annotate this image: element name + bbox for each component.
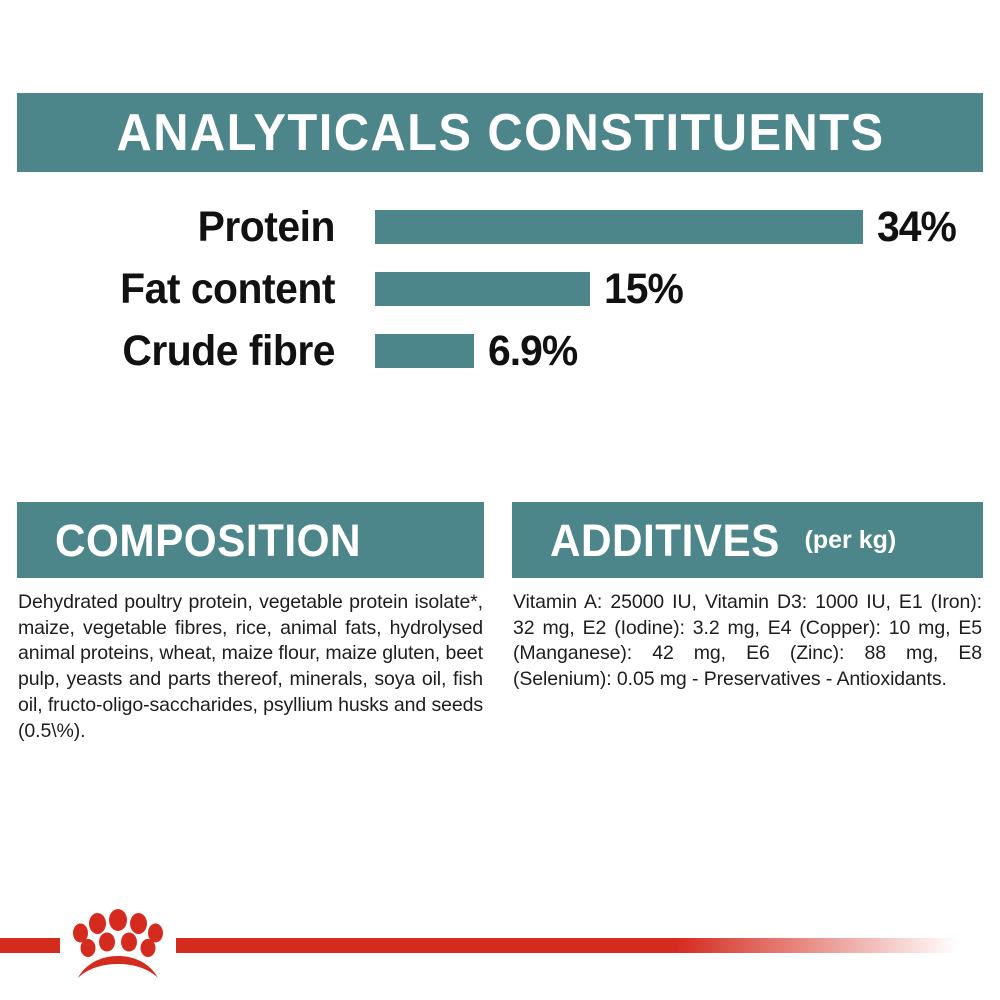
chart-row: Crude fibre 6.9%: [0, 320, 1000, 382]
additives-section: ADDITIVES (per kg) Vitamin A: 25000 IU, …: [500, 502, 1000, 744]
composition-header-bar: COMPOSITION: [17, 502, 484, 578]
chart-value-label: 34%: [877, 206, 956, 249]
chart-row: Protein 34%: [0, 196, 1000, 258]
chart-bar: [375, 210, 863, 244]
chart-value-label: 6.9%: [488, 330, 577, 373]
brand-rule-right: [176, 938, 958, 953]
chart-bar-track: 34%: [375, 196, 1000, 258]
additives-header-bar: ADDITIVES (per kg): [512, 502, 983, 578]
analytical-constituents-header-bar: ANALYTICALS CONSTITUENTS: [17, 93, 983, 172]
composition-section: COMPOSITION Dehydrated poultry protein, …: [0, 502, 500, 744]
chart-category-label: Protein: [17, 206, 335, 249]
page-title: ANALYTICALS CONSTITUENTS: [116, 107, 884, 159]
analytical-constituents-chart: Protein 34% Fat content 15% Crude fibre …: [0, 196, 1000, 382]
chart-category-label: Fat content: [17, 268, 335, 311]
brand-rule-left: [0, 938, 60, 953]
chart-row: Fat content 15%: [0, 258, 1000, 320]
additives-heading: ADDITIVES: [550, 518, 780, 563]
additives-body-text: Vitamin A: 25000 IU, Vitamin D3: 1000 IU…: [512, 590, 983, 693]
composition-body-text: Dehydrated poultry protein, vegetable pr…: [17, 590, 484, 744]
chart-bar-track: 15%: [375, 258, 1000, 320]
chart-bar-track: 6.9%: [375, 320, 1000, 382]
chart-bar: [375, 334, 474, 368]
brand-footer: [0, 898, 1000, 1000]
chart-value-label: 15%: [604, 268, 683, 311]
chart-bar: [375, 272, 590, 306]
royal-canin-paw-crown-logo-icon: [66, 906, 170, 990]
info-sections: COMPOSITION Dehydrated poultry protein, …: [0, 502, 1000, 744]
composition-heading: COMPOSITION: [55, 518, 361, 563]
additives-subheading: (per kg): [805, 528, 897, 553]
chart-category-label: Crude fibre: [17, 330, 335, 373]
